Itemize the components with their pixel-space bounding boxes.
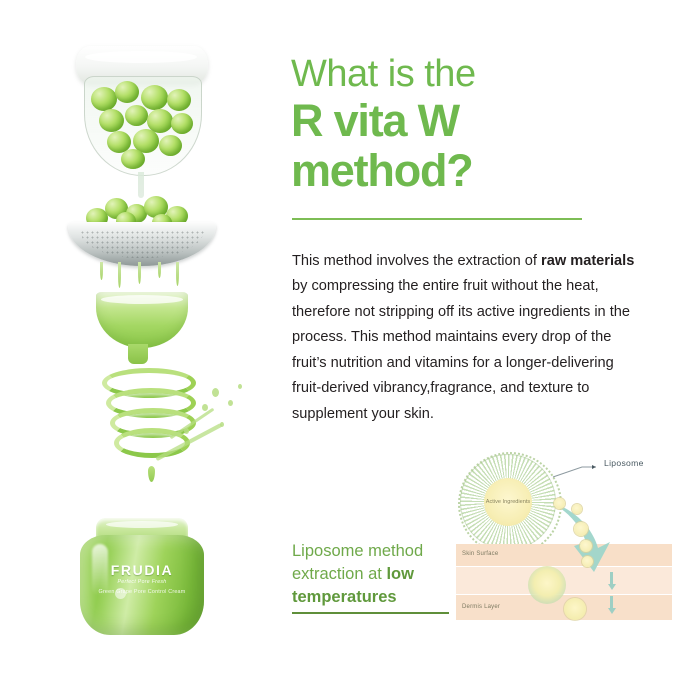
product-tagline-label: Perfect Pore Fresh	[78, 579, 206, 585]
glass-bowl-with-grapes-illustration	[72, 46, 212, 206]
liposome-leader-line	[552, 464, 604, 478]
liposome-diagram: Active Ingredients Liposome Skin Surface…	[448, 440, 679, 620]
body-paragraph: This method involves the extraction of r…	[292, 249, 637, 428]
body-text-bold: raw materials	[541, 253, 634, 269]
sub-heading-divider	[292, 612, 449, 614]
bowl-glass	[84, 76, 202, 176]
liposome-core: Active Ingredients	[484, 478, 532, 526]
falling-droplet	[148, 466, 155, 482]
extraction-process-illustration: FRUDIA Perfect Pore Fresh Green Grape Po…	[0, 0, 282, 679]
absorbed-liposome-lower	[564, 598, 586, 620]
product-name-label: Green Grape Pore Control Cream	[78, 588, 206, 596]
body-text-before: This method involves the extraction of	[292, 253, 541, 269]
body-text-after: by compressing the entire fruit without …	[292, 278, 630, 422]
heading-line-2: R vita W method?	[291, 96, 621, 196]
heading-divider	[292, 218, 582, 220]
colander-with-grapes-illustration	[64, 196, 220, 296]
heading-line-1: What is the	[291, 52, 476, 96]
penetration-arrow-lower	[608, 596, 615, 614]
product-brand-label: FRUDIA	[78, 562, 206, 578]
penetration-arrow-illustration	[548, 496, 640, 576]
skin-surface-label: Skin Surface	[462, 551, 498, 557]
infographic-page: FRUDIA Perfect Pore Fresh Green Grape Po…	[0, 0, 679, 679]
liquid-splash-illustration	[150, 378, 270, 478]
green-juice-bowl	[96, 292, 188, 348]
frudia-cream-jar: FRUDIA Perfect Pore Fresh Green Grape Po…	[78, 518, 206, 636]
sub-heading: Liposome method extraction at low temper…	[292, 540, 452, 609]
bowl-spout	[138, 172, 144, 198]
liposome-vesicle-illustration: Active Ingredients	[460, 454, 556, 550]
dermis-layer-label: Dermis Layer	[462, 604, 500, 610]
content-column: What is the R vita W method? This method…	[291, 0, 679, 679]
active-ingredients-label: Active Ingredients	[486, 499, 530, 506]
liposome-label: Liposome	[604, 458, 644, 468]
